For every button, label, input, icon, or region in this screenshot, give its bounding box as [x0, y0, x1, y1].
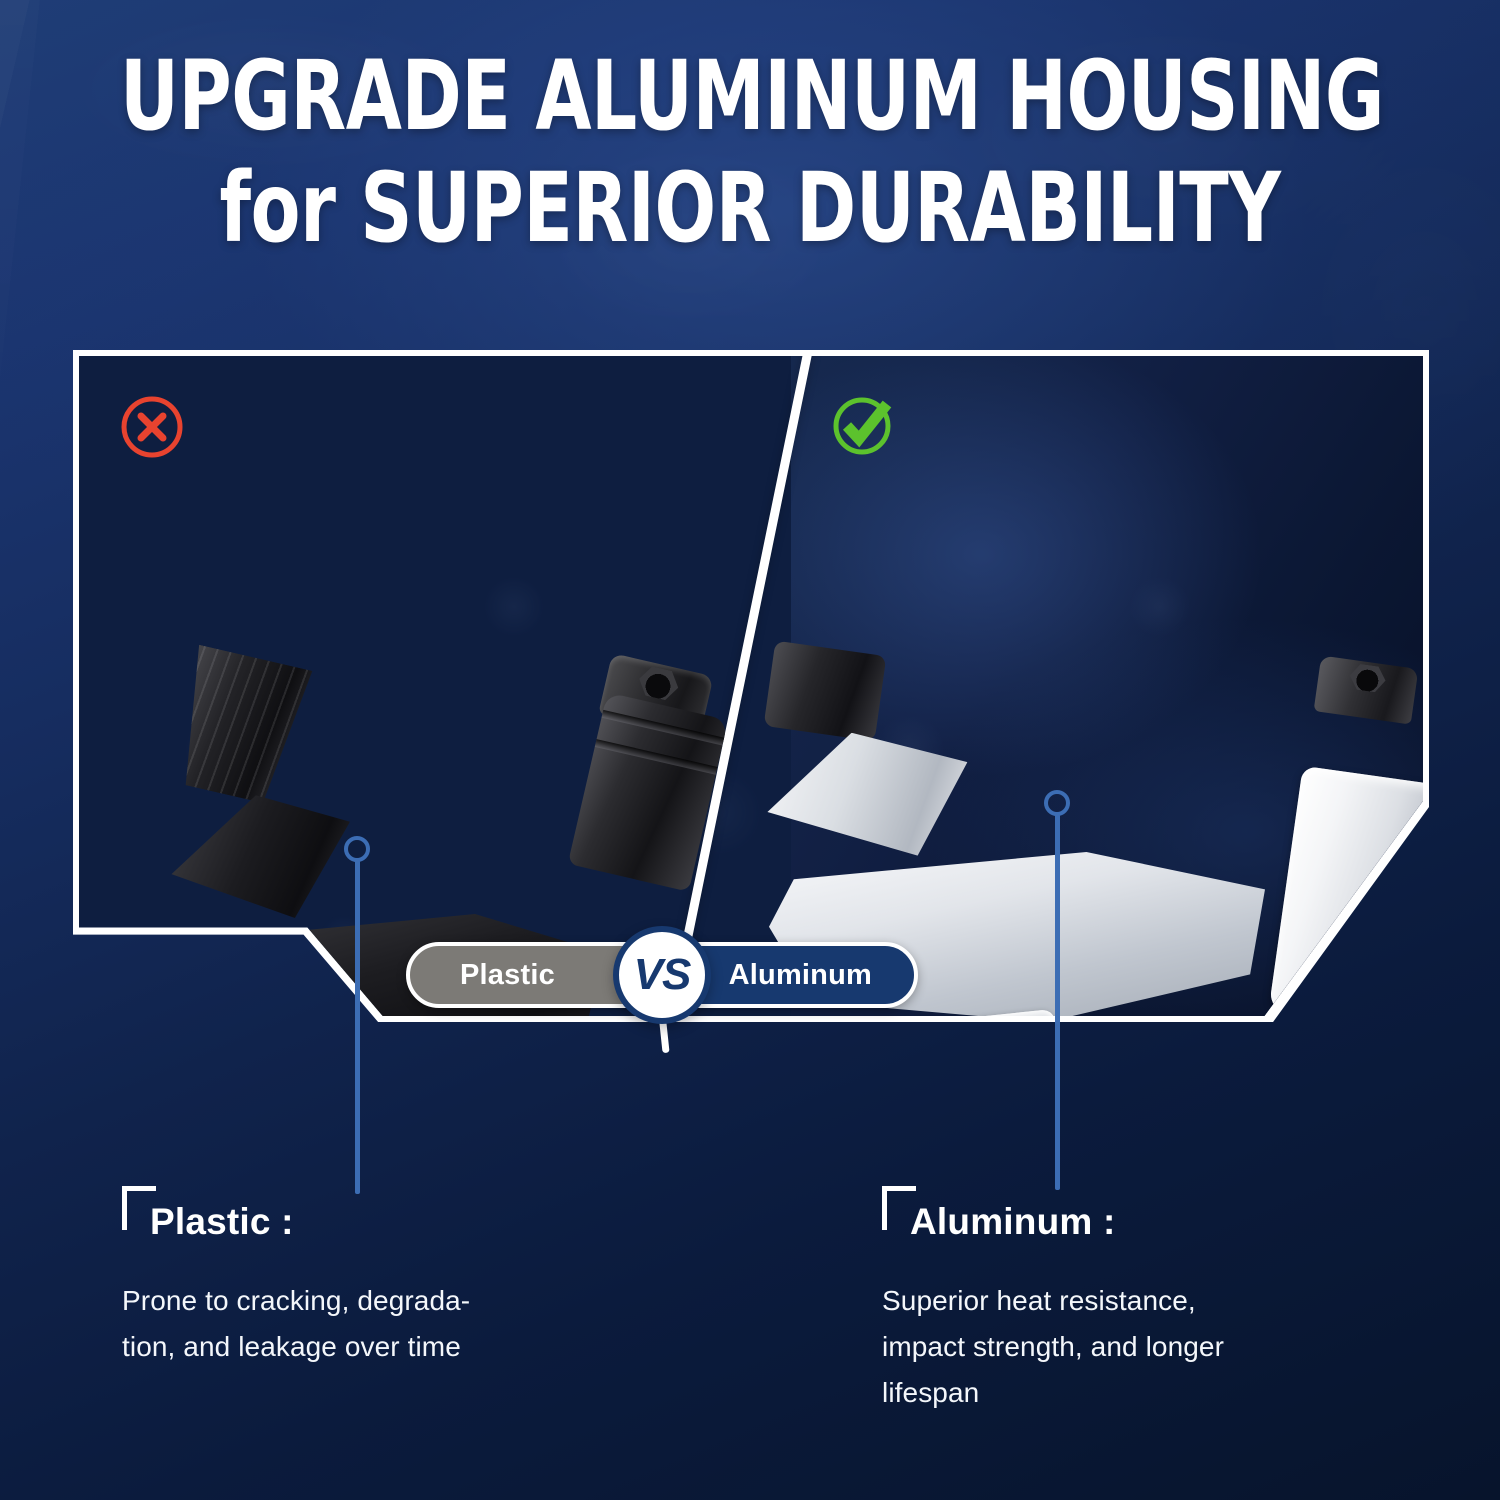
headline-line-1: UPGRADE ALUMINUM HOUSING — [120, 44, 1380, 148]
detail-column-aluminum: Aluminum : Superior heat resistance, imp… — [882, 1186, 1352, 1416]
frame-photo-area — [79, 356, 1423, 1016]
headline-line-2-lead: for — [220, 152, 336, 264]
detail-body-aluminum-line-3: lifespan — [882, 1370, 1352, 1416]
aluminum-cap-hex — [1348, 663, 1387, 694]
detail-column-plastic: Plastic : Prone to cracking, degrada- ti… — [122, 1186, 592, 1370]
page-title: UPGRADE ALUMINUM HOUSING for SUPERIOR DU… — [0, 44, 1500, 260]
detail-heading-aluminum: Aluminum : — [910, 1200, 1352, 1244]
detail-body-aluminum: Superior heat resistance, impact strengt… — [882, 1278, 1352, 1416]
vs-badge-label: VS — [634, 950, 691, 1000]
plastic-canister-ring-lower — [595, 739, 718, 775]
leader-dot-plastic — [344, 836, 370, 862]
detail-body-aluminum-line-1: Superior heat resistance, — [882, 1278, 1352, 1324]
detail-heading-plastic: Plastic : — [150, 1200, 592, 1244]
aluminum-housing-neck — [765, 727, 969, 858]
corner-bracket-icon-aluminum — [882, 1186, 916, 1230]
circle-check-icon — [831, 392, 897, 458]
infographic-canvas: UPGRADE ALUMINUM HOUSING for SUPERIOR DU… — [0, 0, 1500, 1500]
plastic-filter-canister — [568, 692, 728, 891]
comparison-frame — [73, 350, 1429, 1022]
detail-body-plastic-line-1: Prone to cracking, degrada- — [122, 1278, 592, 1324]
headline-line-2-rest: SUPERIOR DURABILITY — [360, 152, 1280, 264]
detail-body-aluminum-line-2: impact strength, and longer — [882, 1324, 1352, 1370]
vs-pill-plastic-label: Plastic — [460, 959, 555, 992]
plastic-canister-skirt — [160, 643, 320, 809]
detail-body-plastic: Prone to cracking, degrada- tion, and le… — [122, 1278, 592, 1370]
plastic-housing-neck — [168, 787, 351, 922]
detail-body-plastic-line-2: tion, and leakage over time — [122, 1324, 592, 1370]
headline-line-2: for SUPERIOR DURABILITY — [120, 156, 1380, 260]
vs-pill-aluminum-label: Aluminum — [729, 959, 872, 992]
vs-comparison-bar: Plastic Aluminum VS — [406, 942, 918, 1008]
aluminum-cap-body — [764, 641, 887, 742]
detail-heading-plastic-wrap: Plastic : — [122, 1186, 592, 1244]
corner-bracket-icon-plastic — [122, 1186, 156, 1230]
plastic-cap-hex — [636, 664, 682, 702]
aluminum-filter-cap — [1314, 655, 1419, 724]
leader-stem-aluminum — [1055, 814, 1060, 1190]
circle-x-icon — [119, 394, 185, 460]
detail-heading-aluminum-wrap: Aluminum : — [882, 1186, 1352, 1244]
aluminum-filter-canister — [1268, 766, 1423, 1016]
vs-badge: VS — [613, 926, 711, 1024]
plastic-canister-ring-upper — [602, 710, 725, 746]
leader-dot-aluminum — [1044, 790, 1070, 816]
leader-stem-plastic — [355, 860, 360, 1194]
